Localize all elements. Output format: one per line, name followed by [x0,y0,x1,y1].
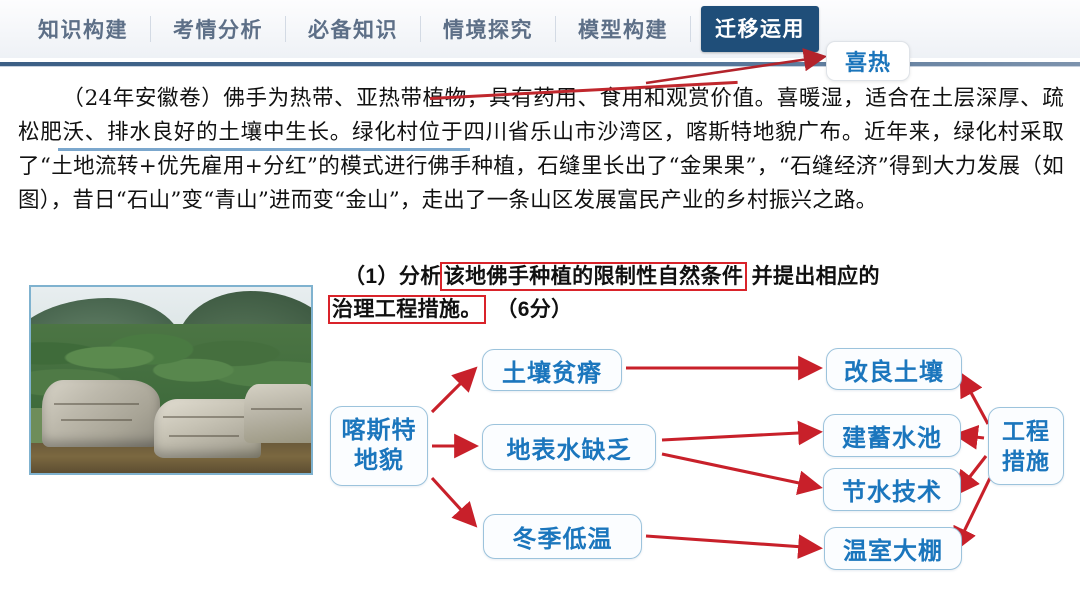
slide-page: 知识构建 考情分析 必备知识 情境探究 模型构建 迁移运用 喜热 （24年安徽卷… [0,0,1080,607]
flow-node-build-reservoir: 建蓄水池 [823,414,961,457]
tab-exam-analysis[interactable]: 考情分析 [151,14,285,44]
flow-node-label: 建蓄水池 [842,418,942,453]
tab-knowledge-construction[interactable]: 知识构建 [0,14,150,44]
flow-node-label: 改良土壤 [844,352,944,387]
question-verb: 分析 [399,265,442,288]
photo-rock-crack [54,403,139,405]
flow-node-improve-soil: 改良土壤 [826,348,962,390]
photo-rock-crack [163,416,246,418]
flow-node-label: 节水技术 [842,472,942,507]
question-middle: 并提出相应的 [752,265,880,288]
question-boxed-condition: 该地佛手种植的限制性自然条件 [442,264,746,289]
tab-model-building[interactable]: 模型构建 [556,14,690,44]
tab-essential-knowledge[interactable]: 必备知识 [286,14,420,44]
question-number: （1） [344,265,399,288]
flow-node-label: 工程 措施 [1002,416,1050,476]
photo-rock-crack [169,435,239,437]
photo-limestone-rock [244,384,313,444]
flow-node-winter-low-temperature: 冬季低温 [483,514,642,559]
flow-node-label: 喀斯特 地貌 [342,416,417,476]
tab-transfer-application[interactable]: 迁移运用 [701,6,819,52]
question-block: （1）分析该地佛手种植的限制性自然条件 并提出相应的治理工程措施。 （6分） [330,260,1070,326]
callout-label: 喜热 [845,45,891,77]
question-marks: （6分） [496,298,572,321]
flow-node-label: 温室大棚 [843,531,943,566]
flow-node-label: 地表水缺乏 [507,430,632,465]
flow-node-poor-soil: 土壤贫瘠 [482,349,622,391]
question-boxed-measures: 治理工程措施。 [330,297,484,322]
karst-field-photo [29,285,313,475]
flow-node-label: 土壤贫瘠 [502,353,602,388]
flow-node-greenhouse: 温室大棚 [824,527,962,570]
tab-context-inquiry[interactable]: 情境探究 [421,14,555,44]
tab-separator [690,16,691,42]
header-divider-thin [0,66,1080,67]
photo-rock-crack [61,419,132,421]
flow-node-karst-landform: 喀斯特 地貌 [330,406,428,486]
flow-node-water-saving-technology: 节水技术 [823,468,961,511]
flow-node-lack-surface-water: 地表水缺乏 [482,424,656,470]
top-navigation-bar: 知识构建 考情分析 必备知识 情境探究 模型构建 迁移运用 [0,0,1080,58]
red-arrow-to-callout [644,48,844,86]
flow-node-engineering-measures: 工程 措施 [988,407,1064,485]
nav-tab-list: 知识构建 考情分析 必备知识 情境探究 模型构建 迁移运用 [0,0,1080,58]
photo-rock-crack [251,408,302,410]
blue-underline-annotation [58,148,470,151]
callout-heat-loving: 喜热 [826,41,910,81]
photo-limestone-rock [42,380,160,447]
flow-node-label: 冬季低温 [513,519,613,554]
